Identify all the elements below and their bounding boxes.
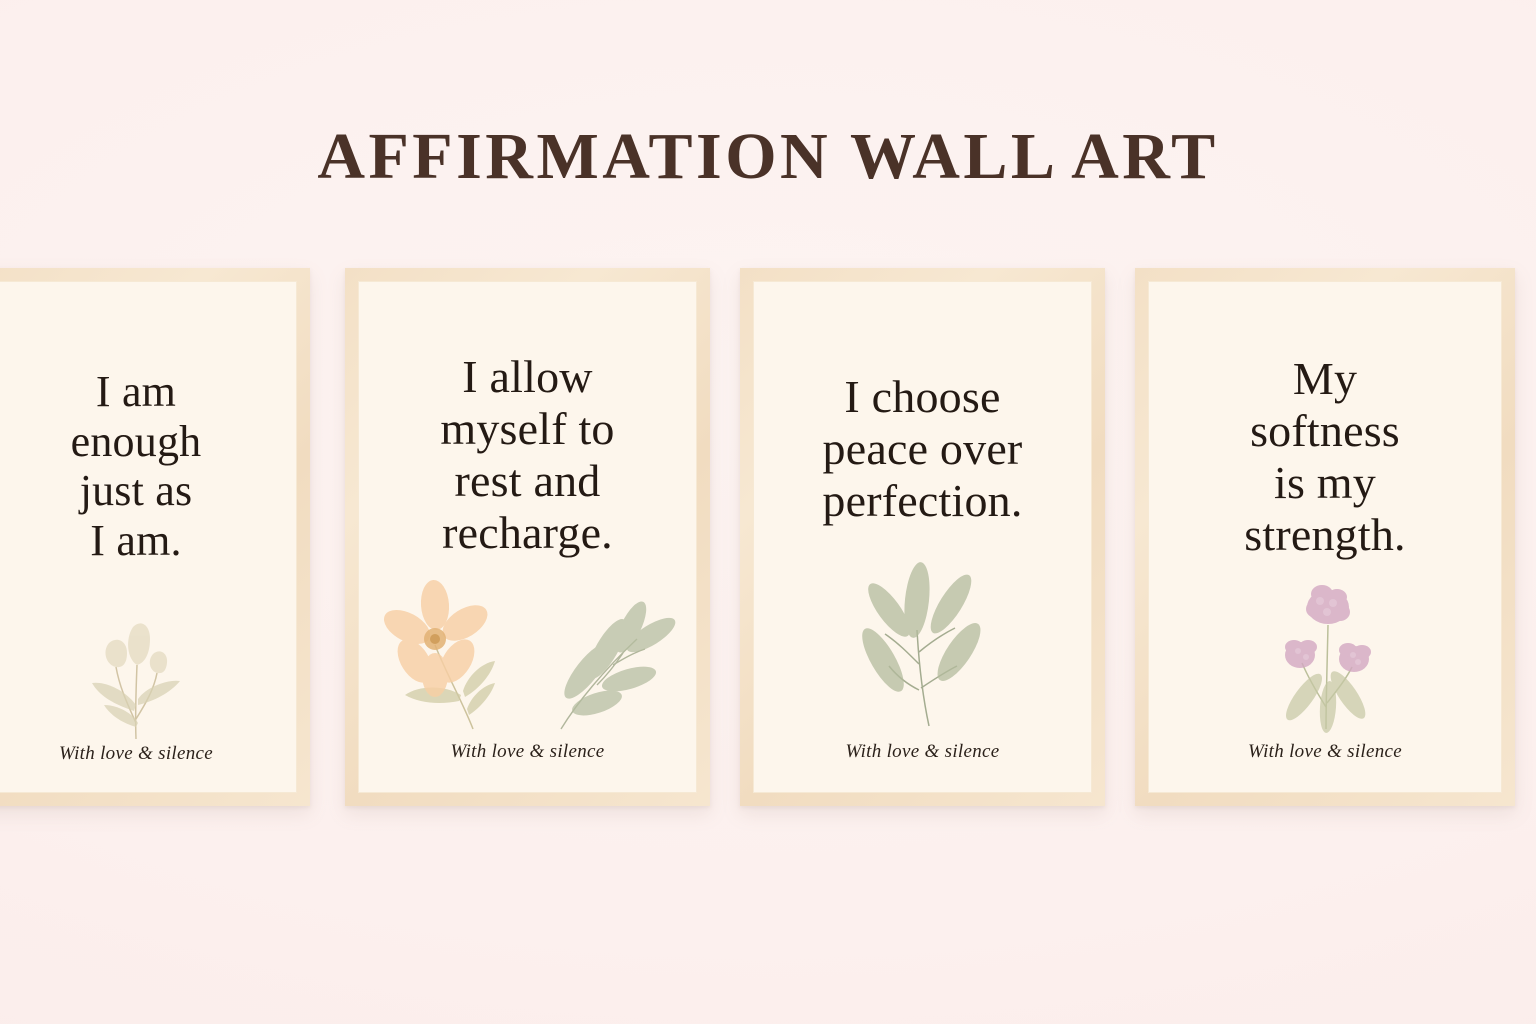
quote-line: softness xyxy=(1148,405,1502,457)
quote-line: rest and xyxy=(358,455,697,507)
quote-line: strength. xyxy=(1148,509,1502,561)
poster-quote-3: I choose peace over perfection. xyxy=(753,371,1092,527)
quote-line: perfection. xyxy=(753,475,1092,527)
poster-frame-3[interactable]: I choose peace over perfection. xyxy=(740,268,1105,806)
poster-artwork-1 xyxy=(0,591,297,741)
poster-quote-4: My softness is my strength. xyxy=(1148,353,1502,561)
poster-frame-4[interactable]: My softness is my strength. xyxy=(1135,268,1515,806)
quote-line: just as xyxy=(0,466,297,516)
sage-leaf-branch-icon xyxy=(551,579,671,731)
poster-artwork-4 xyxy=(1148,581,1502,731)
poster-paper-2: I allow myself to rest and recharge. xyxy=(358,281,697,793)
quote-line: My xyxy=(1148,353,1502,405)
quote-line: I am. xyxy=(0,516,297,566)
pink-lavender-sprig-icon xyxy=(1270,581,1380,731)
quote-line: I allow xyxy=(358,351,697,403)
cream-tulip-sprig-icon xyxy=(84,593,188,741)
poster-signature-4: With love & silence xyxy=(1148,741,1502,763)
quote-line: enough xyxy=(0,417,297,467)
quote-line: myself to xyxy=(358,403,697,455)
poster-quote-1: I am enough just as I am. xyxy=(0,367,297,566)
quote-line: recharge. xyxy=(358,507,697,559)
quote-line: I am xyxy=(0,367,297,417)
poster-signature-2: With love & silence xyxy=(358,741,697,763)
affirmation-wall-art-poster-set: AFFIRMATION WALL ART I am enough just as… xyxy=(0,0,1536,1024)
quote-line: peace over xyxy=(753,423,1092,475)
poster-artwork-3 xyxy=(753,553,1092,728)
quote-line: I choose xyxy=(753,371,1092,423)
poster-frame-2[interactable]: I allow myself to rest and recharge. xyxy=(345,268,710,806)
poster-paper-1: I am enough just as I am. xyxy=(0,281,297,793)
poster-quote-2: I allow myself to rest and recharge. xyxy=(358,351,697,559)
peach-flower-icon xyxy=(385,579,505,731)
page-title: AFFIRMATION WALL ART xyxy=(0,124,1536,190)
poster-paper-4: My softness is my strength. xyxy=(1148,281,1502,793)
poster-signature-3: With love & silence xyxy=(753,741,1092,763)
poster-artwork-2 xyxy=(358,576,697,731)
poster-paper-3: I choose peace over perfection. xyxy=(753,281,1092,793)
poster-row: I am enough just as I am. xyxy=(0,268,1536,813)
poster-frame-1[interactable]: I am enough just as I am. xyxy=(0,268,310,806)
sage-leaf-sprig-icon xyxy=(859,556,987,728)
poster-signature-1: With love & silence xyxy=(0,743,297,765)
quote-line: is my xyxy=(1148,457,1502,509)
